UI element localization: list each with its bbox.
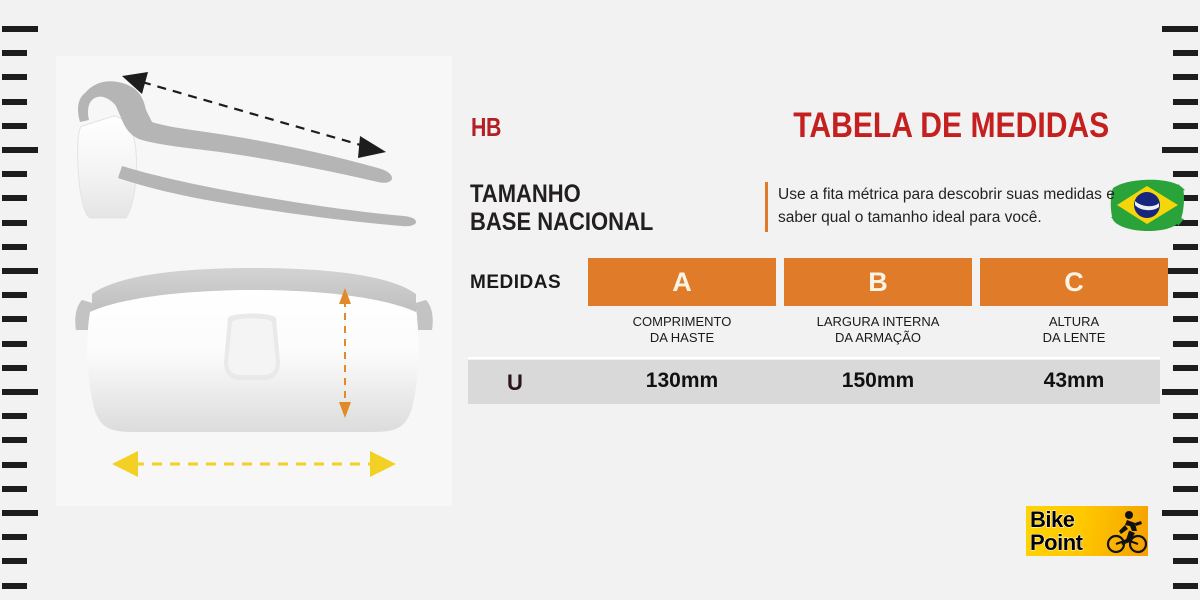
table-cell-c: 43mm (980, 369, 1168, 393)
column-sublabel-c-line1: ALTURA (980, 314, 1168, 330)
ruler-tick (2, 123, 27, 129)
ruler-tick (2, 147, 38, 153)
ruler-tick (2, 99, 27, 105)
column-sublabel-a: COMPRIMENTO DA HASTE (588, 314, 776, 346)
size-standard-line1: TAMANHO (470, 180, 627, 208)
ruler-tick (2, 462, 27, 468)
instruction-line2: saber qual o tamanho ideal para você. (778, 206, 1173, 229)
instruction-line1: Use a fita métrica para descobrir suas m… (778, 183, 1173, 206)
sunglasses-side-view (56, 56, 452, 256)
ruler-tick (2, 292, 27, 298)
ruler-tick (2, 171, 27, 177)
page-title: TABELA DE MEDIDAS (793, 106, 1103, 146)
ruler-tick (2, 558, 27, 564)
bike-point-logo-text: Bike Point (1030, 508, 1083, 554)
column-header-c: C (980, 258, 1168, 306)
frame-width-arrow-head-right (370, 451, 396, 477)
table-row-header-label: MEDIDAS (470, 272, 561, 294)
sunglasses-front-view (56, 256, 452, 506)
ruler-tick (2, 365, 27, 371)
ruler-tick (2, 268, 38, 274)
column-header-b: B (784, 258, 972, 306)
column-sublabel-a-line2: DA HASTE (588, 330, 776, 346)
size-standard-label: TAMANHO BASE NACIONAL (470, 180, 627, 236)
table-cell-a: 130mm (588, 369, 776, 393)
ruler-tick (2, 437, 27, 443)
ruler-tick (1173, 583, 1198, 589)
column-header-a: A (588, 258, 776, 306)
table-row-separator (468, 357, 1160, 359)
temple-length-arrow-head-right (358, 136, 386, 158)
ruler-tick (2, 341, 27, 347)
illustration-panel (56, 56, 452, 506)
frame-width-arrow-head-left (112, 451, 138, 477)
ruler-tick (1173, 99, 1198, 105)
ruler-tick (1173, 341, 1198, 347)
ruler-tick (1173, 558, 1198, 564)
bike-point-logo-line1: Bike (1030, 508, 1083, 531)
ruler-tick (2, 413, 27, 419)
ruler-tick (1173, 534, 1198, 540)
ruler-tick (1173, 486, 1198, 492)
ruler-tick (2, 583, 27, 589)
ruler-tick (1173, 437, 1198, 443)
ruler-tick (2, 26, 38, 32)
hb-brand-logo: HB (471, 112, 501, 143)
ruler-tick (1173, 74, 1198, 80)
ruler-tick (2, 534, 27, 540)
measurement-chart-page: HB TABELA DE MEDIDAS TAMANHO BASE NACION… (0, 0, 1200, 600)
table-cell-b: 150mm (784, 369, 972, 393)
ruler-left (0, 0, 46, 600)
column-sublabel-b-line1: LARGURA INTERNA (784, 314, 972, 330)
ruler-tick (2, 74, 27, 80)
instruction-text: Use a fita métrica para descobrir suas m… (778, 183, 1173, 229)
ruler-tick (2, 195, 27, 201)
ruler-tick (1173, 413, 1198, 419)
ruler-tick (1173, 123, 1198, 129)
ruler-tick (1173, 50, 1198, 56)
column-sublabel-b-line2: DA ARMAÇÃO (784, 330, 972, 346)
ruler-tick (1173, 316, 1198, 322)
column-sublabel-c: ALTURA DA LENTE (980, 314, 1168, 346)
column-sublabel-c-line2: DA LENTE (980, 330, 1168, 346)
table-cell-size: U (490, 370, 540, 396)
ruler-tick (2, 486, 27, 492)
ruler-tick (2, 510, 38, 516)
ruler-tick (2, 50, 27, 56)
description-divider (765, 182, 768, 232)
ruler-tick (1173, 462, 1198, 468)
column-sublabel-a-line1: COMPRIMENTO (588, 314, 776, 330)
size-standard-line2: BASE NACIONAL (470, 208, 627, 236)
ruler-tick (2, 220, 27, 226)
cyclist-icon (1105, 509, 1147, 555)
ruler-tick (2, 389, 38, 395)
ruler-tick (1173, 244, 1198, 250)
ruler-tick (2, 316, 27, 322)
bike-point-logo: Bike Point (1026, 506, 1148, 556)
ruler-tick (1173, 365, 1198, 371)
ruler-tick (1173, 292, 1198, 298)
column-sublabel-b: LARGURA INTERNA DA ARMAÇÃO (784, 314, 972, 346)
ruler-tick (2, 244, 27, 250)
bike-point-logo-line2: Point (1030, 531, 1083, 554)
